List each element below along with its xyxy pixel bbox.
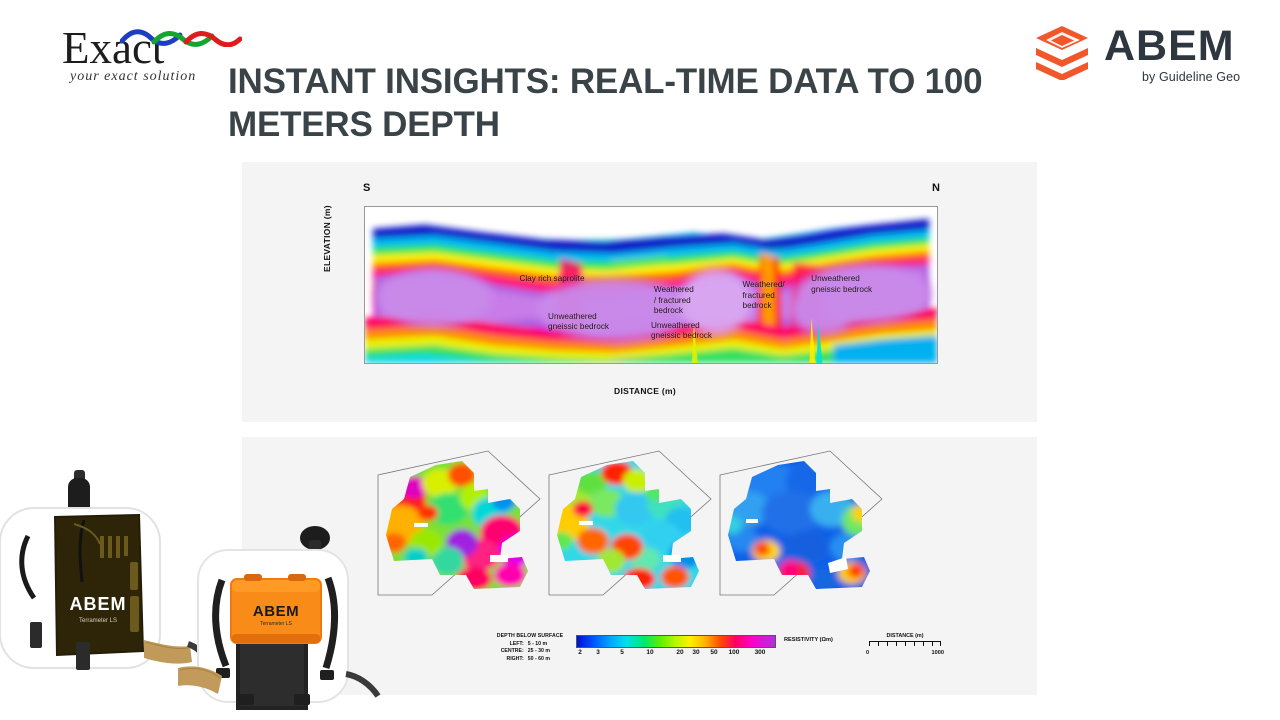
svg-text:Terrameter LS: Terrameter LS bbox=[79, 618, 117, 624]
svg-text:Terrameter LS: Terrameter LS bbox=[260, 621, 292, 627]
depth-legend: DEPTH BELOW SURFACE LEFT: 5 - 10 m CENTR… bbox=[474, 633, 586, 663]
res-tick: 100 bbox=[729, 649, 740, 656]
elevation-axis-label: ELEVATION (m) bbox=[322, 205, 332, 272]
page-title: INSTANT INSIGHTS: REAL-TIME DATA TO 100 … bbox=[228, 60, 1058, 146]
svg-text:ABEM: ABEM bbox=[253, 603, 299, 620]
abem-logo: ABEM by Guideline Geo bbox=[1032, 18, 1252, 90]
res-tick: 50 bbox=[710, 649, 717, 656]
map-image-right bbox=[712, 447, 890, 599]
depth-legend-title: DEPTH BELOW SURFACE bbox=[474, 633, 586, 640]
abem-backpack-frame-photo: ABEM Terrameter LS bbox=[0, 470, 207, 720]
direction-label-south: S bbox=[363, 182, 370, 194]
abem-subtitle: by Guideline Geo bbox=[1142, 70, 1240, 84]
resistivity-legend-label: RESISTIVITY (Ωm) bbox=[784, 637, 833, 643]
depth-key: CENTRE: bbox=[474, 648, 528, 655]
depth-key: RIGHT: bbox=[474, 656, 528, 663]
depth-key: LEFT: bbox=[474, 641, 528, 648]
resistivity-ticks: 2 3 5 10 20 30 50 100 300 bbox=[576, 649, 776, 661]
exact-logo: Exact your exact solution bbox=[62, 25, 242, 87]
res-tick: 20 bbox=[676, 649, 683, 656]
direction-label-north: N bbox=[932, 182, 940, 194]
distance-axis-label: DISTANCE (m) bbox=[614, 386, 676, 396]
map-image-left bbox=[370, 447, 548, 599]
resistivity-cross-section-plot: 110 100 90 80 70 60 50 0 50 100 150 200 … bbox=[364, 206, 938, 364]
depth-legend-row: CENTRE: 25 - 30 m bbox=[474, 648, 586, 655]
res-tick: 30 bbox=[692, 649, 699, 656]
abem-orange-case-backpack-photo: ABEM Terrameter LS bbox=[178, 518, 383, 720]
abem-hexagon-icon bbox=[1032, 24, 1092, 80]
slide-root: Exact your exact solution INSTANT INSIGH… bbox=[0, 0, 1280, 720]
depth-legend-row: LEFT: 5 - 10 m bbox=[474, 641, 586, 648]
res-tick: 10 bbox=[646, 649, 653, 656]
map-panel-centre bbox=[541, 447, 719, 599]
scalebar-start: 0 bbox=[866, 650, 869, 656]
abem-wordmark: ABEM bbox=[1104, 24, 1235, 68]
map-panel-right bbox=[712, 447, 890, 599]
scalebar-graphic bbox=[869, 641, 941, 649]
distance-scalebar-title: DISTANCE (m) bbox=[860, 633, 950, 639]
cross-section-figure: S N ELEVATION (m) DISTANCE (m) bbox=[242, 162, 1037, 422]
annotation-weathered-2: Weathered/fracturedbedrock bbox=[743, 280, 785, 312]
annotation-unweathered-3: Unweatheredgneissic bedrock bbox=[811, 274, 872, 295]
res-tick: 300 bbox=[755, 649, 766, 656]
annotation-weathered-1: Weathered/ fracturedbedrock bbox=[654, 285, 694, 317]
svg-text:ABEM: ABEM bbox=[70, 594, 127, 614]
scalebar-endpoints: 0 1000 bbox=[866, 650, 944, 659]
res-tick: 2 bbox=[578, 649, 582, 656]
scalebar-end: 1000 bbox=[932, 650, 944, 656]
res-tick: 3 bbox=[596, 649, 600, 656]
annotation-unweathered-1: Unweatheredgneissic bedrock bbox=[548, 312, 609, 333]
resistivity-colorbar bbox=[576, 635, 776, 648]
annotation-clay-saprolite: Clay rich saprolite bbox=[519, 274, 584, 285]
distance-scalebar: DISTANCE (m) 0 1000 bbox=[860, 633, 950, 659]
res-tick: 5 bbox=[620, 649, 624, 656]
map-panel-left bbox=[370, 447, 548, 599]
cross-section-panel: S N ELEVATION (m) DISTANCE (m) bbox=[242, 162, 1037, 422]
annotation-unweathered-2: Unweatheredgneissic bedrock bbox=[651, 321, 712, 342]
resistivity-legend: 2 3 5 10 20 30 50 100 300 RESISTIVITY (Ω… bbox=[576, 635, 866, 661]
map-image-centre bbox=[541, 447, 719, 599]
depth-legend-row: RIGHT: 50 - 60 m bbox=[474, 656, 586, 663]
wave-logo-icon bbox=[120, 27, 242, 47]
